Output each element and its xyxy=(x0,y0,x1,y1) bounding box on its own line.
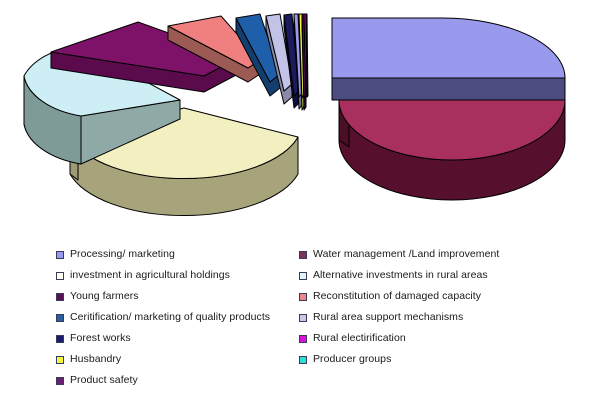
legend-row: investment in agricultural holdings Alte… xyxy=(56,265,586,286)
legend-item-label: Forest works xyxy=(70,333,131,344)
legend-row: Young farmers Reconstitution of damaged … xyxy=(56,286,586,307)
legend-swatch-icon xyxy=(56,377,64,385)
legend-item-label: Reconstitution of damaged capacity xyxy=(313,291,481,302)
pie-left-svg: .e{stroke:#000;stroke-width:1;stroke-lin… xyxy=(8,4,318,219)
legend-item-label: Alternative investments in rural areas xyxy=(313,270,488,281)
legend-item-label: Ceritification/ marketing of quality pro… xyxy=(70,312,270,323)
legend-grid: Processing/ marketing Water management /… xyxy=(56,244,586,391)
legend-swatch-icon xyxy=(299,251,307,259)
legend-item-label: Young farmers xyxy=(70,291,139,302)
legend-item-label: investment in agricultural holdings xyxy=(70,270,230,281)
legend-swatch-icon xyxy=(299,356,307,364)
legend-row: Husbandry Producer groups xyxy=(56,349,586,370)
legend-item-rural-area-support-mechanisms[interactable]: Rural area support mechanisms xyxy=(299,307,463,328)
legend-swatch-icon xyxy=(299,335,307,343)
legend-item-forest-works[interactable]: Forest works xyxy=(56,328,131,349)
legend-row: Processing/ marketing Water management /… xyxy=(56,244,586,265)
pie-right-svg xyxy=(322,6,572,201)
legend-item-rural-electirification[interactable]: Rural electirification xyxy=(299,328,406,349)
legend-item-husbandry[interactable]: Husbandry xyxy=(56,349,121,370)
legend-item-label: Product safety xyxy=(70,375,138,386)
legend-item-young-farmers[interactable]: Young farmers xyxy=(56,286,139,307)
legend-item-label: Rural area support mechanisms xyxy=(313,312,463,323)
legend-row: Product safety xyxy=(56,370,586,391)
legend-swatch-icon xyxy=(299,272,307,280)
pie-chart-right[interactable] xyxy=(322,6,572,201)
legend: Processing/ marketing Water management /… xyxy=(0,238,600,400)
legend-swatch-icon xyxy=(56,251,64,259)
legend-item-label: Husbandry xyxy=(70,354,121,365)
legend-item-ceritification-marketing-quality-products[interactable]: Ceritification/ marketing of quality pro… xyxy=(56,307,270,328)
legend-item-label: Rural electirification xyxy=(313,333,406,344)
legend-item-alternative-investments-rural-areas[interactable]: Alternative investments in rural areas xyxy=(299,265,488,286)
legend-item-product-safety[interactable]: Product safety xyxy=(56,370,138,391)
charts-container: .e{stroke:#000;stroke-width:1;stroke-lin… xyxy=(0,0,600,232)
legend-swatch-icon xyxy=(56,293,64,301)
slice-right-processing-marketing[interactable] xyxy=(332,18,565,78)
pie-chart-left[interactable]: .e{stroke:#000;stroke-width:1;stroke-lin… xyxy=(8,4,318,219)
legend-item-reconstitution-damaged-capacity[interactable]: Reconstitution of damaged capacity xyxy=(299,286,481,307)
legend-item-water-management-land-improvement[interactable]: Water management /Land improvement xyxy=(299,244,499,265)
legend-swatch-icon xyxy=(56,356,64,364)
legend-item-label: Producer groups xyxy=(313,354,391,365)
legend-item-label: Water management /Land improvement xyxy=(313,249,499,260)
legend-item-investment-agricultural-holdings[interactable]: investment in agricultural holdings xyxy=(56,265,230,286)
legend-swatch-icon xyxy=(56,335,64,343)
legend-swatch-icon xyxy=(56,314,64,322)
legend-swatch-icon xyxy=(299,293,307,301)
slice-right-processing-marketing-side[interactable] xyxy=(332,78,565,100)
legend-row: Forest works Rural electirification xyxy=(56,328,586,349)
legend-item-label: Processing/ marketing xyxy=(70,249,175,260)
legend-row: Ceritification/ marketing of quality pro… xyxy=(56,307,586,328)
slice-right-water-management-land-improvement[interactable] xyxy=(339,100,565,200)
legend-swatch-icon xyxy=(299,314,307,322)
legend-item-processing-marketing[interactable]: Processing/ marketing xyxy=(56,244,175,265)
legend-item-producer-groups[interactable]: Producer groups xyxy=(299,349,391,370)
legend-swatch-icon xyxy=(56,272,64,280)
